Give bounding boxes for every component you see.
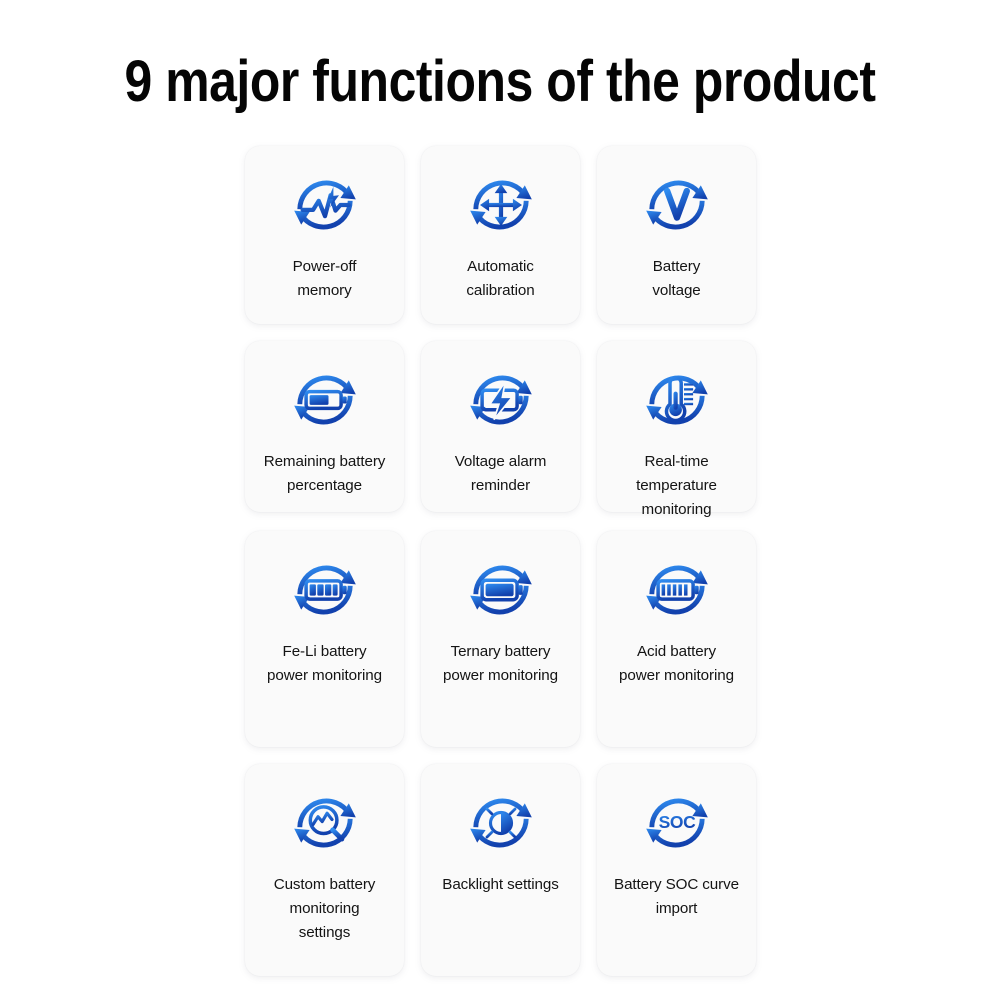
card-label: Custom batterymonitoringsettings bbox=[245, 873, 404, 945]
function-card-battery-voltage[interactable]: Batteryvoltage bbox=[597, 146, 756, 324]
card-label: Power-offmemory bbox=[245, 255, 404, 303]
card-label: Voltage alarmreminder bbox=[421, 450, 580, 498]
card-label: Ternary batterypower monitoring bbox=[421, 640, 580, 688]
card-label: Battery SOC curveimport bbox=[597, 873, 756, 921]
function-card-automatic-calibration[interactable]: Automaticcalibration bbox=[421, 146, 580, 324]
function-card-power-off-memory[interactable]: Power-offmemory bbox=[245, 146, 404, 324]
function-card-fe-li-battery-power-monitoring[interactable]: Fe-Li batterypower monitoring bbox=[245, 531, 404, 747]
function-card-acid-battery-power-monitoring[interactable]: Acid batterypower monitoring bbox=[597, 531, 756, 747]
function-card-battery-soc-curve-import[interactable]: SOC Battery SOC curveimport bbox=[597, 764, 756, 976]
card-label: Fe-Li batterypower monitoring bbox=[245, 640, 404, 688]
battery-four-bars-refresh-icon bbox=[290, 555, 360, 625]
card-label: Batteryvoltage bbox=[597, 255, 756, 303]
four-way-arrows-refresh-icon bbox=[466, 170, 536, 240]
volt-v-refresh-icon bbox=[642, 170, 712, 240]
magnifier-chart-refresh-icon bbox=[290, 788, 360, 858]
battery-full-solid-refresh-icon bbox=[466, 555, 536, 625]
card-label: Remaining batterypercentage bbox=[245, 450, 404, 498]
function-card-ternary-battery-power-monitoring[interactable]: Ternary batterypower monitoring bbox=[421, 531, 580, 747]
function-card-real-time-temperature-monitoring[interactable]: Real-timetemperaturemonitoring bbox=[597, 341, 756, 512]
battery-level-refresh-icon bbox=[290, 365, 360, 435]
functions-grid: Power-offmemory bbox=[245, 146, 755, 976]
card-label: Acid batterypower monitoring bbox=[597, 640, 756, 688]
brightness-sun-refresh-icon bbox=[466, 788, 536, 858]
function-card-voltage-alarm-reminder[interactable]: Voltage alarmreminder bbox=[421, 341, 580, 512]
function-card-backlight-settings[interactable]: Backlight settings bbox=[421, 764, 580, 976]
card-label: Real-timetemperaturemonitoring bbox=[597, 450, 756, 522]
function-card-custom-battery-monitoring-settings[interactable]: Custom batterymonitoringsettings bbox=[245, 764, 404, 976]
thermometer-refresh-icon bbox=[642, 365, 712, 435]
battery-six-bars-refresh-icon bbox=[642, 555, 712, 625]
product-functions-page: 9 major functions of the product bbox=[0, 0, 1000, 1000]
card-label: Backlight settings bbox=[421, 873, 580, 897]
card-label: Automaticcalibration bbox=[421, 255, 580, 303]
page-title: 9 major functions of the product bbox=[70, 48, 930, 115]
svg-text:SOC: SOC bbox=[658, 812, 696, 832]
waveform-bolt-refresh-icon bbox=[290, 170, 360, 240]
soc-text-refresh-icon: SOC bbox=[642, 788, 712, 858]
battery-bolt-refresh-icon bbox=[466, 365, 536, 435]
function-card-remaining-battery-percentage[interactable]: Remaining batterypercentage bbox=[245, 341, 404, 512]
